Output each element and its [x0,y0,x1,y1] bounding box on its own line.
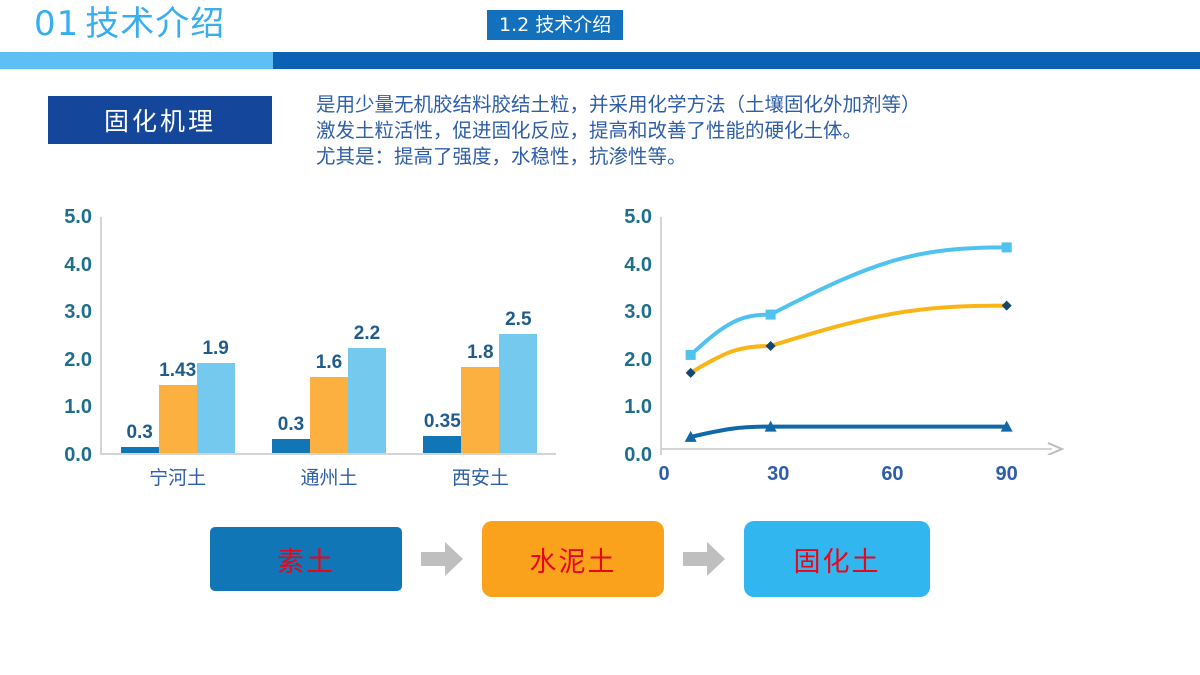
axis-tick-label: 5.0 [46,206,92,229]
line-chart-series [660,217,1066,455]
slide: 01技术介绍 1.2 技术介绍 固化机理 是用少量无机胶结料胶结土粒，并采用化学… [0,0,1200,675]
bar-chart-category-labels: 宁河土通州土西安土 [102,463,556,490]
axis-tick-label: 1.0 [46,396,92,419]
axis-tick-label: 60 [881,463,903,486]
bar: 2.5 [499,334,537,453]
bar-chart-bars: 0.31.431.90.31.62.20.351.82.5 [102,217,556,453]
bar-chart-plot-area: 0.31.431.90.31.62.20.351.82.5 [100,217,556,455]
bar: 0.3 [121,447,159,453]
axis-tick-label: 0 [658,463,669,486]
bar: 1.8 [461,367,499,453]
page-title: 01技术介绍 [34,2,225,46]
header-divider-right [273,52,1200,69]
axis-tick-label: 90 [996,463,1018,486]
axis-tick-label: 0.0 [606,444,652,467]
data-point-marker [766,341,776,351]
axis-tick-label: 0.0 [46,444,92,467]
bar-value-label: 1.6 [316,352,342,374]
page-title-text: 技术介绍 [85,4,225,44]
axis-tick-label: 3.0 [606,301,652,324]
line-series [691,427,1007,437]
strength-line-chart: 5.04.03.02.01.00.0 0306090 [600,205,1070,500]
strength-bar-chart: 5.04.03.02.01.00.0 0.31.431.90.31.62.20.… [40,205,560,500]
bar-value-label: 0.3 [126,422,152,444]
bar-value-label: 2.5 [505,309,531,331]
bar-group: 0.351.82.5 [405,217,556,453]
axis-tick-label: 3.0 [46,301,92,324]
bar: 1.9 [197,363,235,453]
bar-group: 0.31.431.9 [102,217,253,453]
category-label: 宁河土 [102,463,253,490]
flow-step-solidified-soil: 固化土 [744,521,930,597]
bar-chart-y-axis-labels: 5.04.03.02.01.00.0 [40,205,92,455]
bar-value-label: 1.8 [467,342,493,364]
data-point-marker [686,350,696,360]
mechanism-label: 固化机理 [48,96,272,144]
line-chart-x-axis-labels: 0306090 [660,463,1066,487]
line-chart-plot-area [660,217,1066,455]
axis-tick-label: 30 [767,463,789,486]
mechanism-line-1: 是用少量无机胶结料胶结土粒，并采用化学方法（土壤固化外加剂等） [316,92,1076,118]
axis-tick-label: 5.0 [606,206,652,229]
bar-value-label: 2.2 [354,323,380,345]
section-tag: 1.2 技术介绍 [487,10,623,40]
flow-step-cement-soil: 水泥土 [482,521,664,597]
bar: 1.43 [159,385,197,453]
axis-tick-label: 1.0 [606,396,652,419]
line-series [691,306,1007,373]
bar: 0.3 [272,439,310,453]
mechanism-line-3: 尤其是：提高了强度，水稳性，抗渗性等。 [316,144,1076,170]
data-point-marker [1002,301,1012,311]
flow-arrow-icon-2 [683,542,725,576]
category-label: 西安土 [405,463,556,490]
mechanism-line-2: 激发土粒活性，促进固化反应，提高和改善了性能的硬化土体。 [316,118,1076,144]
mechanism-description: 是用少量无机胶结料胶结土粒，并采用化学方法（土壤固化外加剂等） 激发土粒活性，促… [316,92,1076,170]
axis-tick-label: 2.0 [46,349,92,372]
bar-value-label: 0.3 [278,414,304,436]
line-series [691,247,1007,355]
bar-value-label: 1.43 [159,360,196,382]
data-point-marker [766,310,776,320]
flow-step-raw-soil: 素土 [210,527,402,591]
bar-value-label: 0.35 [424,411,461,433]
line-chart-y-axis-labels: 5.04.03.02.01.00.0 [600,205,652,455]
data-point-marker [1002,242,1012,252]
bar: 1.6 [310,377,348,453]
bar-group: 0.31.62.2 [253,217,404,453]
bar: 2.2 [348,348,386,453]
axis-tick-label: 4.0 [606,254,652,277]
flow-arrow-icon-1 [421,542,463,576]
bar: 0.35 [423,436,461,453]
header-divider-left [0,52,273,69]
bar-value-label: 1.9 [202,338,228,360]
header-divider [0,52,1200,69]
page-title-number: 01 [34,4,79,44]
process-flow: 素土 水泥土 固化土 [210,520,930,598]
bar-chart-x-axis-line [100,453,556,455]
axis-tick-label: 2.0 [606,349,652,372]
axis-tick-label: 4.0 [46,254,92,277]
category-label: 通州土 [253,463,404,490]
